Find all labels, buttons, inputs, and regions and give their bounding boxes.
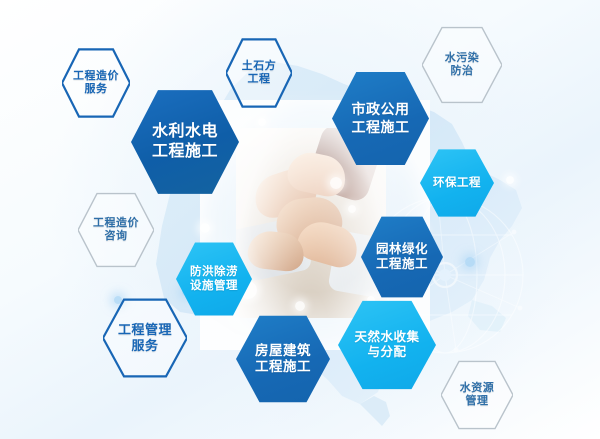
hexagon-label: 土石方 工程 (242, 60, 277, 87)
hexagon-label: 工程管理 服务 (118, 322, 172, 354)
hex-flood-control-drainage-facility-management[interactable]: 防洪除涝 设施管理 (176, 241, 252, 317)
hex-environmental-protection-engineering[interactable]: 环保工程 (420, 148, 494, 218)
hex-earthwork-engineering[interactable]: 土石方 工程 (226, 38, 292, 108)
hex-water-resources-management[interactable]: 水资源 管理 (441, 360, 513, 430)
hexagon-label: 水污染 防治 (445, 52, 480, 79)
hex-municipal-public-works-construction[interactable]: 市政公用 工程施工 (332, 70, 429, 167)
hexagon-label: 水利水电 工程施工 (152, 122, 218, 161)
hexagon-label: 园林绿化 工程施工 (376, 242, 428, 273)
hexagon-label: 工程造价 咨询 (93, 217, 139, 244)
hexagon-label: 市政公用 工程施工 (352, 101, 410, 135)
hex-engineering-cost-consulting[interactable]: 工程造价 咨询 (78, 192, 154, 268)
hex-water-conservancy-hydropower-construction[interactable]: 水利水电 工程施工 (131, 88, 239, 196)
hexagon-label: 水资源 管理 (460, 382, 495, 409)
hex-landscaping-engineering-construction[interactable]: 园林绿化 工程施工 (361, 215, 443, 299)
hexagon-label: 环保工程 (433, 176, 481, 190)
infographic-canvas: 工程造价 服务土石方 工程水利水电 工程施工市政公用 工程施工水污染 防治环保工… (0, 0, 600, 439)
hex-building-construction-engineering[interactable]: 房屋建筑 工程施工 (236, 314, 330, 404)
hex-natural-water-collection-distribution[interactable]: 天然水收集 与分配 (338, 299, 436, 391)
hexagon-label: 防洪除涝 设施管理 (190, 265, 238, 293)
hexagon-layer: 工程造价 服务土石方 工程水利水电 工程施工市政公用 工程施工水污染 防治环保工… (0, 0, 600, 439)
hexagon-label: 房屋建筑 工程施工 (255, 343, 311, 376)
hex-engineering-management-service[interactable]: 工程管理 服务 (103, 298, 187, 378)
hexagon-label: 工程造价 服务 (73, 70, 119, 97)
hex-water-pollution-control[interactable]: 水污染 防治 (422, 26, 502, 104)
hex-engineering-cost-service[interactable]: 工程造价 服务 (62, 48, 130, 118)
hexagon-label: 天然水收集 与分配 (354, 330, 419, 361)
